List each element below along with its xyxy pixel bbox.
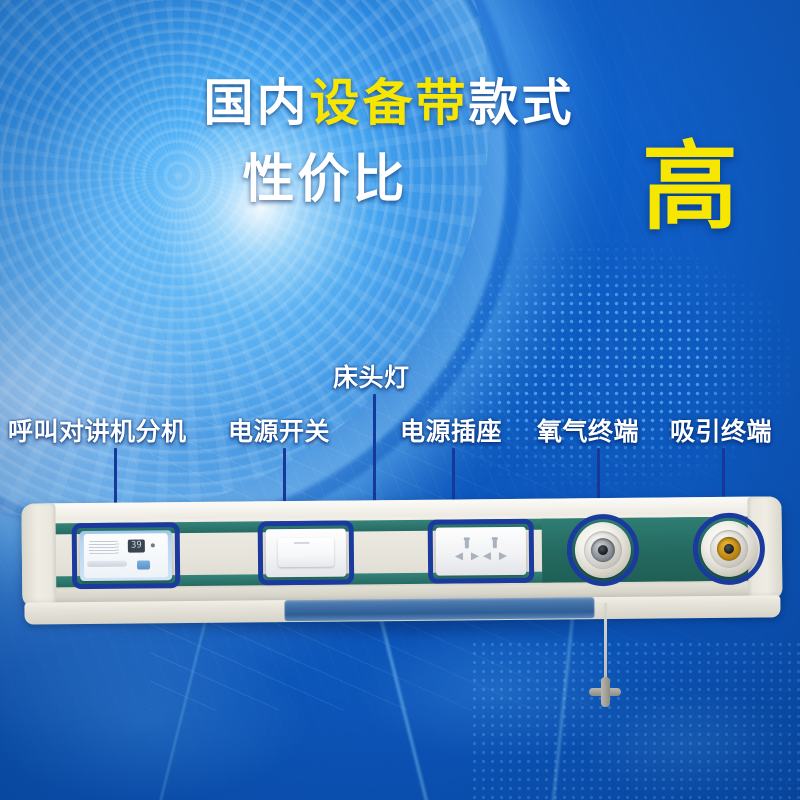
- pull-cord-handle[interactable]: [589, 677, 621, 707]
- headline-part-2: 设备带: [310, 75, 469, 131]
- panel-rail-blue-cover: [284, 597, 594, 621]
- product-banner: 国内设备带款式 性价比 高 呼叫对讲机分机 电源开关 床头灯 电源插座 氧气终端…: [0, 0, 800, 800]
- callout-label: 电源开关: [228, 412, 330, 448]
- headline-part-1: 国内: [204, 75, 310, 131]
- dotted-world-map-lower: [470, 640, 800, 800]
- callout-label: 呼叫对讲机分机: [8, 412, 187, 448]
- dotted-world-map: [360, 200, 800, 500]
- leader-line-nurse-call-intercom: [114, 448, 117, 510]
- handle-cross-vertical: [601, 677, 610, 707]
- callout-label: 床头灯: [333, 358, 410, 394]
- highlight-box-power-socket: [428, 519, 535, 584]
- highlight-circle-oxygen-terminal: [567, 514, 640, 587]
- headline-line-1: 国内设备带款式: [0, 78, 800, 128]
- medical-bed-head-unit: 39: [21, 496, 782, 623]
- headline-part-3: 款式: [469, 75, 575, 131]
- light-sheen: [0, 120, 580, 800]
- headline-highlight-word: 高: [642, 140, 738, 236]
- callout-label: 氧气终端: [537, 412, 639, 448]
- highlight-circle-suction-terminal: [693, 513, 766, 586]
- highlight-box-power-switch: [258, 520, 355, 585]
- panel-end-cap-left: [21, 503, 56, 607]
- callout-label: 吸引终端: [670, 412, 772, 448]
- callout-label: 电源插座: [400, 412, 502, 448]
- pull-cord[interactable]: [604, 603, 607, 683]
- highlight-box-intercom: [72, 522, 181, 589]
